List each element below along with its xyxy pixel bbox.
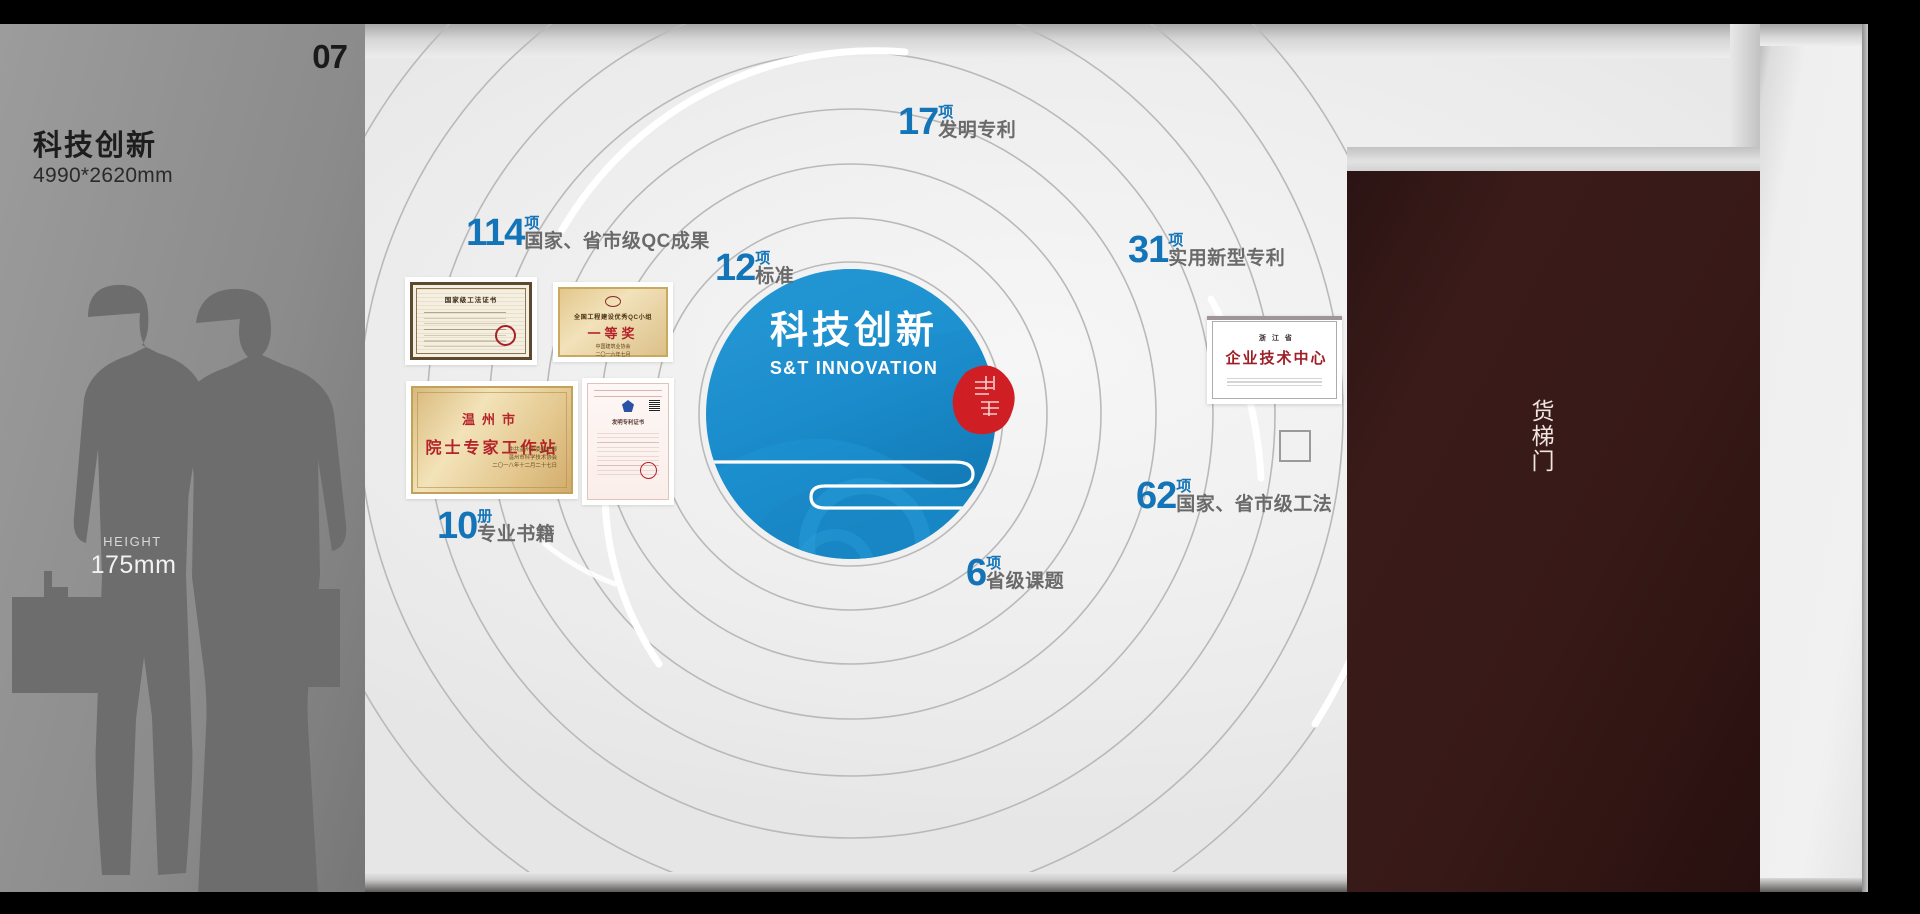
stat-construction-methods: 62项国家、省市级工法	[1136, 478, 1332, 514]
bottom-letterbox	[0, 892, 1920, 914]
door-header-recess	[1347, 147, 1807, 171]
stat-unit: 册	[477, 509, 555, 524]
certificate-issuer: 中国建筑业协会	[560, 343, 666, 350]
stat-standards: 12项标准	[715, 250, 794, 286]
stat-value: 6	[966, 555, 986, 591]
right-wall-edge	[1862, 24, 1868, 892]
stat-unit: 项	[986, 556, 1064, 571]
stat-unit: 项	[524, 216, 710, 231]
plaque-province: 浙 江 省	[1209, 333, 1344, 343]
certificate-date: 二〇一八年十二月二十七日	[492, 461, 557, 469]
stat-value: 10	[437, 508, 477, 544]
certificate-issuer-2: 温州市科学技术协会	[492, 453, 557, 461]
certificate-academician-expert-workstation: 温州市 院士专家工作站 中共温州市委组织部 温州市科学技术协会 二〇一八年十二月…	[406, 381, 578, 499]
emblem-text-block: 科技创新 S&T INNOVATION	[724, 312, 984, 379]
stat-value: 17	[898, 104, 938, 140]
stat-provincial-topics: 6项省级课题	[966, 555, 1064, 591]
plaque-title: 企业技术中心	[1209, 347, 1344, 368]
stat-unit: 项	[1176, 479, 1332, 494]
certificate-national-qc-first-prize: 全国工程建设优秀QC小组 一等奖 中国建筑业协会 二〇一六年七月	[553, 282, 673, 362]
stat-value: 12	[715, 250, 755, 286]
stat-label: 实用新型专利	[1168, 249, 1285, 268]
certificate-title: 全国工程建设优秀QC小组	[560, 312, 666, 321]
blank-square-marker	[1279, 430, 1311, 462]
panel-number: 07	[312, 38, 347, 76]
certificate-national-construction-method: 国家级工法证书	[405, 277, 537, 365]
emblem-title-cn: 科技创新	[724, 312, 984, 352]
certificate-title: 国家级工法证书	[413, 294, 529, 304]
height-label: HEIGHT	[60, 534, 205, 549]
stat-unit: 项	[1168, 233, 1285, 248]
stat-value: 31	[1128, 232, 1168, 268]
page-title: 科技创新	[33, 122, 157, 164]
plaque-enterprise-tech-center: 浙 江 省 企业技术中心	[1207, 316, 1342, 404]
spec-panel: 07 科技创新 4990*2620mm HEIGHT 175mm	[0, 24, 365, 892]
side-wall-top-shadow	[1760, 24, 1862, 46]
stat-value: 114	[466, 215, 524, 251]
stat-value: 62	[1136, 478, 1176, 514]
stat-professional-books: 10册专业书籍	[437, 508, 555, 544]
top-letterbox	[0, 0, 1920, 24]
side-wall-panel	[1760, 24, 1862, 892]
stat-invention-patents: 17项发明专利	[898, 104, 1016, 140]
stat-unit: 项	[755, 251, 794, 266]
height-value: 175mm	[46, 551, 221, 580]
stat-label: 发明专利	[938, 121, 1016, 140]
stat-label: 省级课题	[986, 572, 1064, 591]
stat-label: 专业书籍	[477, 525, 555, 544]
certificate-patent: 发明专利证书	[582, 378, 674, 505]
certificate-city: 温州市	[413, 409, 571, 428]
freight-elevator-door[interactable]: 货梯门	[1347, 171, 1807, 892]
stat-qc-results: 114项国家、省市级QC成果	[466, 215, 710, 251]
certificate-prize: 一等奖	[560, 323, 666, 342]
certificate-issuer-1: 中共温州市委组织部	[492, 445, 557, 453]
door-label: 货梯门	[1525, 399, 1556, 474]
emblem-title-en: S&T INNOVATION	[724, 358, 984, 379]
panel-dimensions: 4990*2620mm	[33, 164, 173, 188]
certificate-date: 二〇一六年七月	[560, 351, 666, 358]
stat-label: 标准	[755, 267, 794, 286]
stat-label: 国家、省市级工法	[1176, 495, 1332, 514]
human-scale-silhouettes	[0, 279, 365, 892]
scene: 07 科技创新 4990*2620mm HEIGHT 175mm	[0, 0, 1920, 914]
stat-label: 国家、省市级QC成果	[524, 232, 710, 251]
stat-utility-patents: 31项实用新型专利	[1128, 232, 1285, 268]
stat-unit: 项	[938, 105, 1016, 120]
certificate-title: 发明专利证书	[588, 418, 668, 426]
side-wall-bottom-shadow	[1760, 878, 1862, 892]
